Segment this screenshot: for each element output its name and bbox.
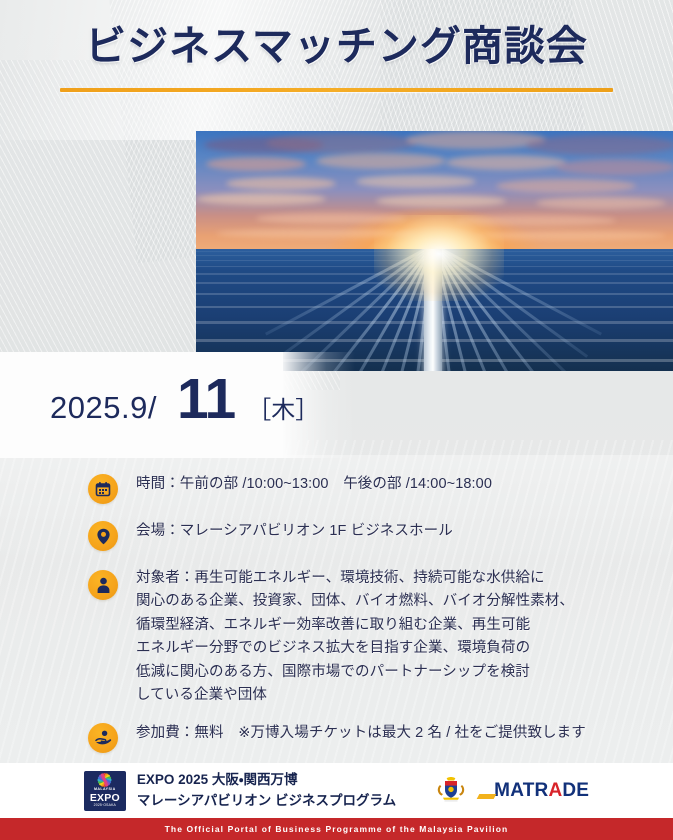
info-row-time: 時間：午前の部 /10:00~13:00 午後の部 /14:00~18:00 xyxy=(88,473,608,504)
expo-logo-word: EXPO xyxy=(90,793,120,804)
cloud xyxy=(556,159,673,175)
matrade-letter-a-red: A xyxy=(548,780,562,802)
cloud xyxy=(446,155,566,170)
matrade-letters-atr: ATR xyxy=(510,780,548,802)
cloud xyxy=(456,215,616,226)
hero-photo-solar-panels xyxy=(196,131,673,371)
cloud xyxy=(406,131,546,149)
page-title: ビジネスマッチング商談会 xyxy=(0,24,673,69)
footer: MALAYSIA EXPO 2025·OSAKA EXPO 2025 大阪・関西… xyxy=(0,763,673,818)
title-underline-rule xyxy=(60,88,613,92)
cloud xyxy=(216,229,416,238)
bottom-red-bar-text: The Official Portal of Business Programm… xyxy=(165,824,509,834)
cloud xyxy=(356,175,476,188)
cloud xyxy=(536,197,666,209)
cloud xyxy=(496,179,636,193)
cloud xyxy=(226,177,336,190)
malaysia-coat-of-arms-icon xyxy=(434,773,468,808)
matrade-swoosh-icon xyxy=(478,782,493,799)
date-day-of-week: ［木］ xyxy=(247,390,319,425)
cloud xyxy=(526,135,673,155)
info-row-fee-text: 参加費：無料 ※万博入場チケットは最大 2 名 / 社をご提供致します xyxy=(136,722,586,745)
matrade-letter-m: M xyxy=(494,780,510,802)
calendar-icon xyxy=(88,474,118,504)
bottom-red-bar: The Official Portal of Business Programm… xyxy=(0,818,673,840)
footer-caption: EXPO 2025 大阪・関西万博 マレーシアパビリオン ビジネスプログラム xyxy=(137,770,396,812)
cloud xyxy=(256,213,406,224)
info-list: 時間：午前の部 /10:00~13:00 午後の部 /14:00~18:00 会… xyxy=(88,473,608,769)
cloud xyxy=(206,157,306,171)
hand-money-icon xyxy=(88,723,118,753)
matrade-letters-de: DE xyxy=(562,780,589,802)
event-date: 2025.9/ 11 ［木］ xyxy=(50,372,319,426)
poster-root: ビジネスマッチング商談会 2025.9/ 11 ［木］ xyxy=(0,0,673,840)
footer-matrade-block: M ATR A DE xyxy=(434,773,589,808)
hero-center-rail xyxy=(424,249,442,371)
date-year-month: 2025.9/ xyxy=(50,390,157,426)
expo-2025-logo: MALAYSIA EXPO 2025·OSAKA xyxy=(84,771,126,811)
cloud xyxy=(316,153,446,169)
info-row-audience-text: 対象者：再生可能エネルギー、環境技術、持続可能な水供給に 関心のある企業、投資家… xyxy=(136,567,574,708)
map-pin-icon xyxy=(88,521,118,551)
cloud xyxy=(376,195,506,207)
cloud xyxy=(196,193,326,205)
page-title-wrap: ビジネスマッチング商談会 xyxy=(0,24,673,69)
cloud xyxy=(476,231,666,240)
background-sheen xyxy=(0,0,673,140)
info-row-fee: 参加費：無料 ※万博入場チケットは最大 2 名 / 社をご提供致します xyxy=(88,722,608,753)
info-row-venue: 会場：マレーシアパビリオン 1F ビジネスホール xyxy=(88,520,608,551)
info-row-venue-text: 会場：マレーシアパビリオン 1F ビジネスホール xyxy=(136,520,453,543)
matrade-logo: M ATR A DE xyxy=(478,780,589,802)
person-icon xyxy=(88,570,118,600)
info-row-time-text: 時間：午前の部 /10:00~13:00 午後の部 /14:00~18:00 xyxy=(136,473,492,496)
expo-starburst-icon xyxy=(96,773,113,787)
cloud xyxy=(266,133,416,153)
footer-expo-block: MALAYSIA EXPO 2025·OSAKA EXPO 2025 大阪・関西… xyxy=(84,770,396,812)
expo-logo-year: 2025·OSAKA xyxy=(94,804,116,807)
date-day: 11 xyxy=(177,372,235,426)
info-row-audience: 対象者：再生可能エネルギー、環境技術、持続可能な水供給に 関心のある企業、投資家… xyxy=(88,567,608,708)
